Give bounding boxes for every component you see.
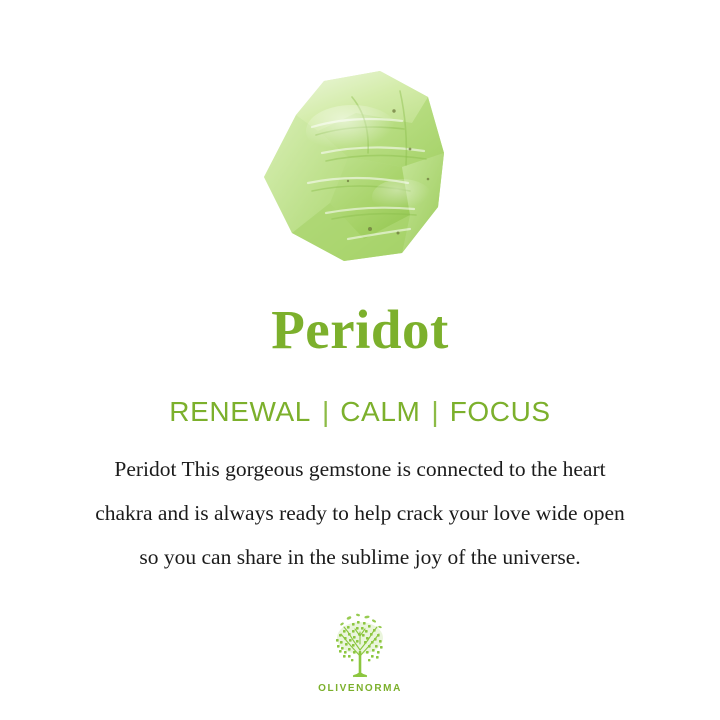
raw-peridot-crystal-icon: [252, 57, 468, 273]
description-line: Peridot This gorgeous gemstone is connec…: [0, 447, 720, 491]
keyword-separator: |: [420, 395, 449, 429]
page-title: Peridot: [0, 299, 720, 361]
keyword-focus: FOCUS: [450, 396, 551, 427]
product-info-card: Peridot RENEWAL|CALM|FOCUS Peridot This …: [0, 0, 720, 720]
description-line: chakra and is always ready to help crack…: [0, 491, 720, 535]
brand-lockup: OLIVENORMA: [0, 612, 720, 694]
keyword-strip: RENEWAL|CALM|FOCUS: [0, 395, 720, 429]
description-text: Peridot This gorgeous gemstone is connec…: [0, 447, 720, 579]
gemstone-hero: [0, 52, 720, 278]
keyword-calm: CALM: [340, 396, 420, 427]
brand-wordmark: OLIVENORMA: [318, 683, 402, 694]
tree-logo-icon: [327, 612, 393, 682]
description-line: so you can share in the sublime joy of t…: [0, 535, 720, 579]
keyword-renewal: RENEWAL: [169, 396, 311, 427]
keyword-separator: |: [311, 395, 340, 429]
